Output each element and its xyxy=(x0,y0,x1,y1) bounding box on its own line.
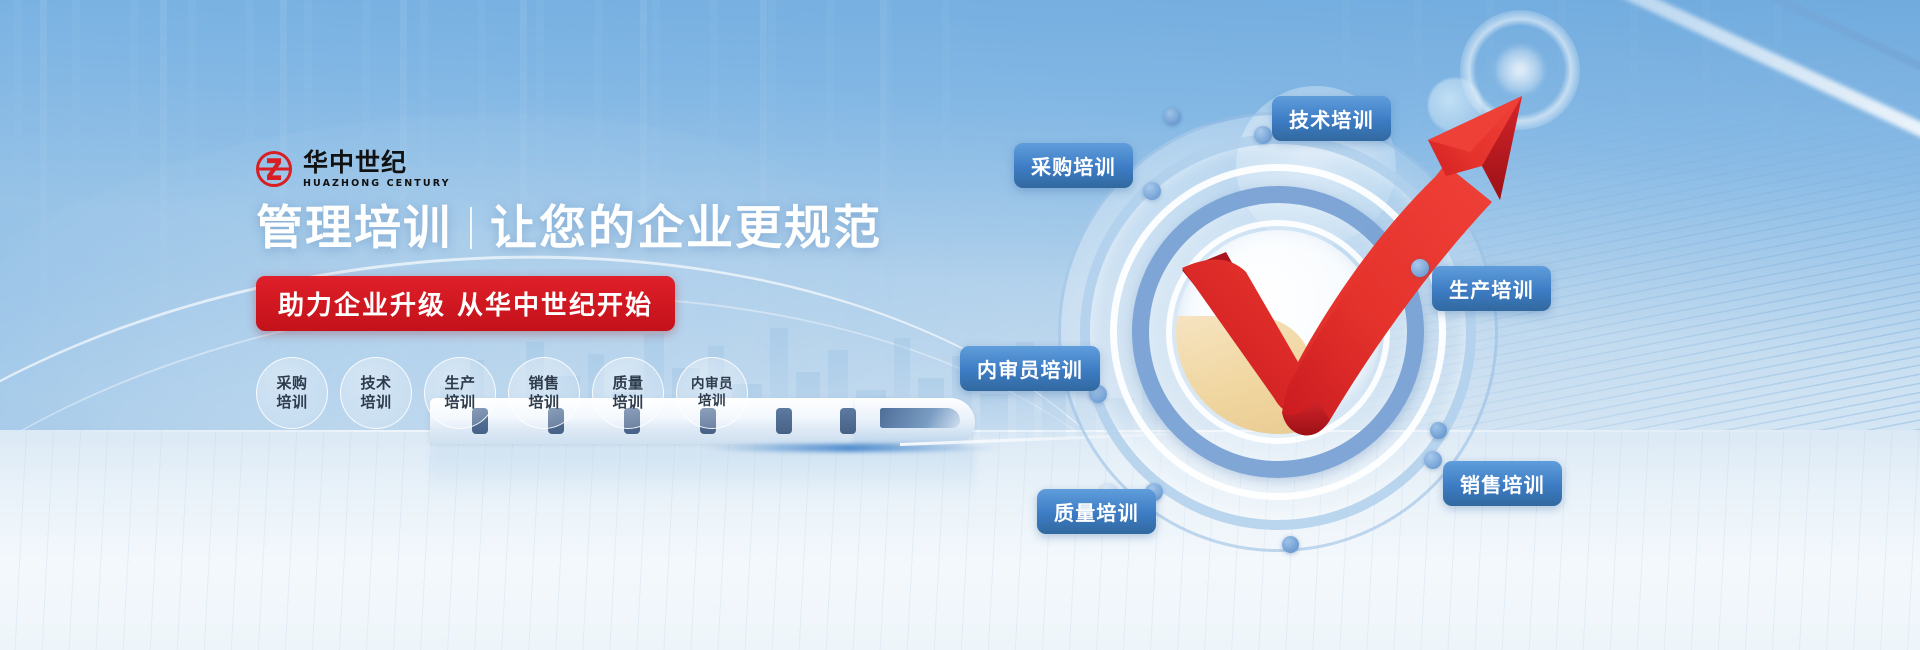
tag-technical-training[interactable]: 技术培训 xyxy=(1272,96,1391,141)
pill-production-training[interactable]: 生产 培训 xyxy=(424,357,496,429)
pill-line1: 采购 xyxy=(276,374,307,393)
brand-logo[interactable]: 华中世纪 HUAZHONG CENTURY xyxy=(256,150,896,189)
brand-name-en: HUAZHONG CENTURY xyxy=(303,179,451,189)
pill-procurement-training[interactable]: 采购 培训 xyxy=(256,357,328,429)
tag-quality-training[interactable]: 质量培训 xyxy=(1037,489,1156,534)
tag-procurement-training[interactable]: 采购培训 xyxy=(1014,143,1133,188)
brand-wordmark: 华中世纪 HUAZHONG CENTURY xyxy=(303,150,451,189)
tag-internal-auditor-training[interactable]: 内审员培训 xyxy=(960,346,1100,391)
pill-technical-training[interactable]: 技术 培训 xyxy=(340,357,412,429)
pill-line2: 培训 xyxy=(698,393,726,410)
pill-line2: 培训 xyxy=(360,393,391,412)
pill-line2: 培训 xyxy=(444,393,475,412)
headline: 管理培训 让您的企业更规范 xyxy=(256,203,896,255)
slogan-badge: 助力企业升级 从华中世纪开始 xyxy=(256,276,675,331)
pill-line1: 销售 xyxy=(528,374,559,393)
pill-line2: 培训 xyxy=(276,393,307,412)
huazhong-emblem-icon xyxy=(256,151,292,187)
tag-connector-dot xyxy=(1424,451,1442,469)
tag-connector-dot xyxy=(1411,259,1429,277)
train-reflection xyxy=(430,450,975,500)
pill-line1: 生产 xyxy=(444,374,475,393)
pill-line2: 培训 xyxy=(612,393,643,412)
pill-quality-training[interactable]: 质量 培训 xyxy=(592,357,664,429)
training-banner: 采购培训 技术培训 生产培训 内审员培训 质量培训 销售培训 华中世纪 HUAZ… xyxy=(0,0,1920,650)
pill-line1: 技术 xyxy=(360,374,391,393)
tag-connector-dot xyxy=(1254,126,1272,144)
tag-production-training[interactable]: 生产培训 xyxy=(1432,266,1551,311)
tag-connector-dot xyxy=(1143,182,1161,200)
headline-divider-icon xyxy=(470,207,472,249)
tag-sales-training[interactable]: 销售培训 xyxy=(1443,461,1562,506)
train-light-streak xyxy=(700,444,1000,452)
brand-name-cn: 华中世纪 xyxy=(303,150,451,175)
headline-left: 管理培训 xyxy=(256,203,452,255)
course-pill-list: 采购 培训 技术 培训 生产 培训 销售 培训 质量 培训 内审员 培训 xyxy=(256,357,896,429)
pill-line1: 质量 xyxy=(612,374,643,393)
pill-sales-training[interactable]: 销售 培训 xyxy=(508,357,580,429)
banner-content: 华中世纪 HUAZHONG CENTURY 管理培训 让您的企业更规范 助力企业… xyxy=(256,150,896,429)
pill-line2: 培训 xyxy=(528,393,559,412)
pill-line1: 内审员 xyxy=(691,376,733,393)
pill-internal-auditor-training[interactable]: 内审员 培训 xyxy=(676,357,748,429)
headline-right: 让您的企业更规范 xyxy=(490,203,882,255)
